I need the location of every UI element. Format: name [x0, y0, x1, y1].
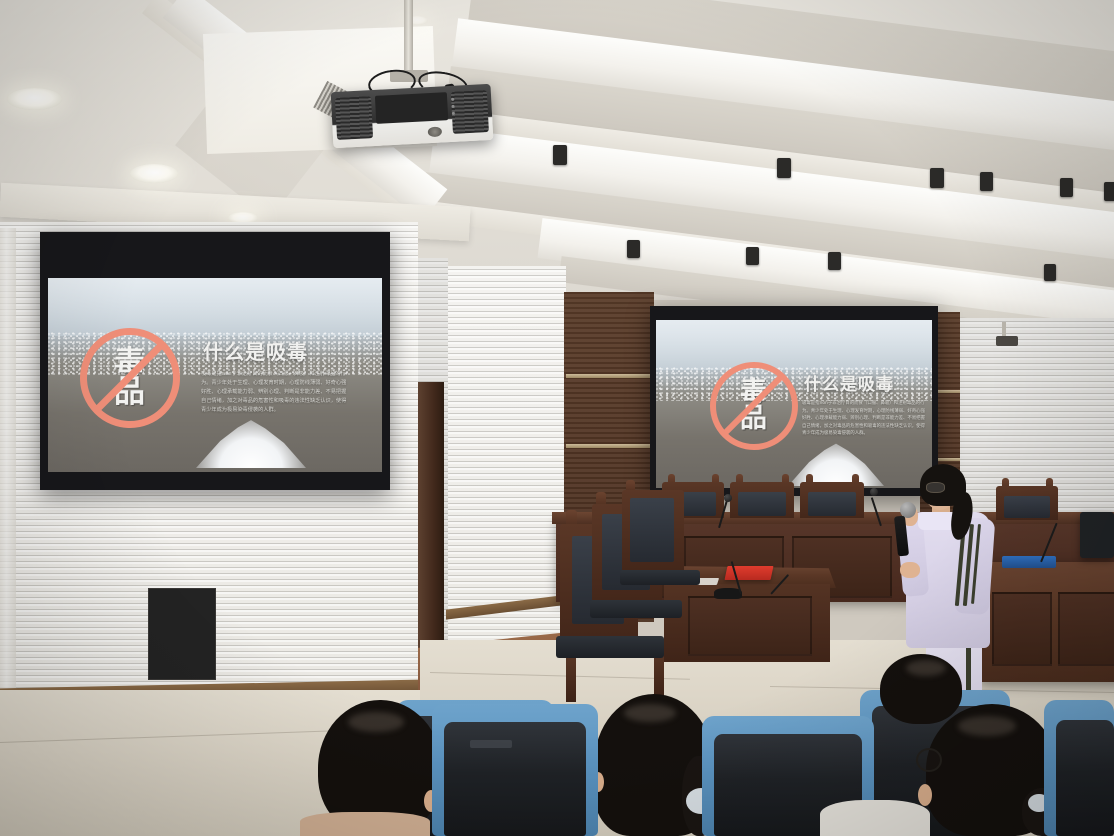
ceiling-spotlight-9 — [828, 252, 841, 270]
wood-panel-trim-1 — [566, 374, 654, 378]
ceiling-spotlight-4 — [980, 172, 993, 191]
ceiling-spotlight-6 — [1104, 182, 1114, 201]
projector — [331, 84, 494, 148]
ceiling-spotlight-10 — [1044, 264, 1056, 281]
side-doorway[interactable] — [418, 382, 444, 682]
front-chair-1-seat[interactable] — [556, 636, 664, 658]
left-wall-column — [0, 228, 16, 720]
security-camera-icon — [996, 336, 1018, 346]
slide-body-line-3: 好胜、心理承载能力弱、辨别心理、判断是非能力差、不易把握 — [201, 388, 371, 397]
slide-body: 吸毒是指non于非治疗目的而食（口服、鼻吸）和注射毒品的行 为。青少年处于生理、… — [201, 370, 371, 415]
slide2-title: 什么是吸毒 — [804, 370, 894, 395]
projector-lens — [428, 126, 443, 137]
ceiling-spotlight-1 — [553, 145, 567, 165]
bench-mic-head-1 — [724, 494, 732, 502]
front-chair-3-seat[interactable] — [620, 570, 700, 585]
slide-body-line-5: 青少年成为极易染毒侵袭的人群。 — [201, 406, 371, 415]
slide2-powder-pile — [788, 440, 884, 486]
slide-body-line-2: 为。青少年处于生理、心理发育时期，心理防线薄弱、好奇心强 — [201, 379, 371, 388]
blue-cloth — [1002, 556, 1056, 568]
ceiling-spotlight-2 — [777, 158, 791, 178]
slide2-body-line-2: 为。青少年处于生理、心理发育时期，心理防线薄弱、好奇心强 — [802, 408, 932, 416]
desk-monitor[interactable] — [1080, 512, 1114, 558]
front-chair-2-seat[interactable] — [590, 600, 682, 618]
slide2-body-line-3: 好胜、心理承载能力弱、辨别心理、判断是非能力差、不易把握 — [802, 415, 932, 423]
front-chair-1-leg — [566, 652, 576, 702]
audience-seat-front-1-core — [444, 722, 586, 836]
slide-body-line-1: 吸毒是指non于非治疗目的而食（口服、鼻吸）和注射毒品的行 — [201, 370, 371, 379]
audience-glasses-icon-3 — [916, 748, 942, 772]
slide2-body-line-5: 青少年成为极易染毒侵袭的人群。 — [802, 430, 932, 438]
bench-chair-4-pad — [1004, 496, 1050, 518]
audience-shoulder-1 — [300, 812, 430, 836]
bench-mic-head-2 — [870, 488, 878, 496]
presenter-glasses-icon — [926, 482, 945, 493]
slide-powder-pile — [196, 416, 306, 468]
audience-seat-front-3-core — [1056, 720, 1114, 836]
slide2-body-line-4: 自己情绪，加之对毒品的危害性和吸毒的违法性缺乏认识，使得 — [802, 423, 932, 431]
ceiling-downlight-1 — [7, 88, 62, 110]
projector-vent-left — [335, 96, 373, 140]
audience-seat-front-1-notch — [470, 740, 512, 748]
projector-status-led-2 — [451, 105, 454, 108]
wall-access-panel[interactable] — [148, 588, 216, 680]
left-projection-screen[interactable]: 毒 品 什么是吸毒 吸毒是指non于非治疗目的而食（口服、鼻吸）和注射毒品的行 … — [48, 278, 382, 472]
slide2-body-line-1: 吸毒是指non于非治疗目的而食（口服、鼻吸）和注射毒品的行 — [802, 400, 932, 408]
audience-head-far-1-highlight — [906, 660, 946, 676]
audience-head-1-highlight — [348, 712, 404, 732]
right-desk-panel-1 — [992, 592, 1052, 666]
audience-shoulder-2 — [820, 800, 930, 836]
slide2-body: 吸毒是指non于非治疗目的而食（口服、鼻吸）和注射毒品的行 为。青少年处于生理、… — [802, 400, 932, 438]
audience-head-3-highlight — [958, 716, 1016, 736]
no-drugs-icon-2: 毒 品 — [710, 362, 798, 450]
bench-chair-2-pad — [738, 492, 786, 516]
bench-chair-3-pad — [808, 492, 856, 516]
no-drugs-icon: 毒 品 — [80, 328, 180, 428]
projector-vent-right — [451, 90, 489, 134]
projector-control-panel[interactable] — [375, 92, 448, 124]
audience-ear-3 — [918, 784, 932, 806]
ceiling-spotlight-8 — [746, 247, 759, 265]
ceiling-spotlight-3 — [930, 168, 944, 188]
audience-head-2-highlight — [624, 704, 676, 722]
right-desk-panel-2 — [1058, 592, 1114, 666]
ceiling-spotlight-7 — [627, 240, 640, 258]
slide-body-line-4: 自己情绪，加之对毒品的危害性和吸毒的违法性缺乏认识，使得 — [201, 397, 371, 406]
counsel-desk-panel — [688, 596, 812, 656]
ceiling-downlight-2 — [130, 164, 178, 183]
presenter-hand-left — [900, 562, 920, 578]
ceiling-spotlight-5 — [1060, 178, 1073, 197]
front-chair-3-pad — [630, 498, 674, 562]
right-projection-screen[interactable]: 毒 品 什么是吸毒 吸毒是指non于非治疗目的而食（口服、鼻吸）和注射毒品的行 … — [656, 320, 932, 488]
slide-title: 什么是吸毒 — [203, 336, 308, 365]
wood-panel-trim-2 — [566, 444, 654, 448]
auditorium-scene: 毒 品 什么是吸毒 吸毒是指non于非治疗目的而食（口服、鼻吸）和注射毒品的行 … — [0, 0, 1114, 836]
projector-mount-rod — [404, 0, 413, 74]
